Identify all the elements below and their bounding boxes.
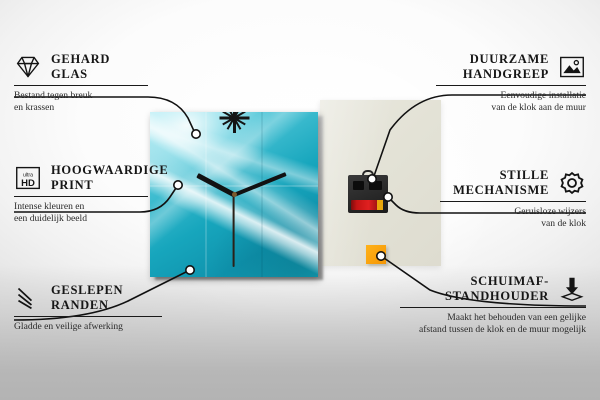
wall-clock	[150, 112, 318, 277]
feature-divider	[14, 316, 162, 317]
desc-line-2: en krassen	[14, 102, 54, 113]
title-line-1: STILLE	[500, 168, 549, 182]
desc-line-1: Maakt het behouden van een gelijke	[447, 312, 586, 323]
feature-stille-mechanisme: STILLE MECHANISME Geruisloze wijzers van…	[440, 168, 586, 229]
title-line-1: GEHARD	[51, 52, 110, 66]
desc-line-1: Geruisloze wijzers	[514, 206, 586, 217]
feature-schuimafstandhouder: SCHUIMAF- STANDHOUDER Maakt het behouden…	[400, 274, 586, 335]
title-line-1: HOOGWAARDIGE	[51, 163, 168, 177]
feature-divider	[14, 85, 148, 86]
feature-stille-mechanisme-title: STILLE MECHANISME	[453, 168, 549, 197]
svg-text:HD: HD	[21, 177, 35, 188]
feature-duurzame-handgreep: DUURZAME HANDGREEP Eenvoudige installati…	[436, 52, 586, 113]
title-line-1: GESLEPEN	[51, 283, 123, 297]
feature-duurzame-handgreep-desc: Eenvoudige installatie van de klok aan d…	[436, 90, 586, 113]
desc-line-1: Gladde en veilige afwerking	[14, 321, 123, 332]
title-line-2: GLAS	[51, 67, 88, 81]
picture-frame-icon	[558, 54, 586, 80]
glass-seam-vertical-2	[261, 112, 263, 277]
feature-gehard-glas-title: GEHARD GLAS	[51, 52, 110, 81]
desc-line-1: Bestand tegen breuk	[14, 90, 92, 101]
feature-geslepen-randen-title: GESLEPEN RANDEN	[51, 283, 123, 312]
desc-line-2: afstand tussen de klok en de muur mogeli…	[419, 324, 586, 335]
clock-mechanism	[348, 175, 388, 213]
glass-seam-vertical-1	[205, 112, 207, 277]
desc-line-1: Eenvoudige installatie	[500, 90, 586, 101]
feature-hoogwaardige-print-header: ultra HD HOOGWAARDIGE PRINT	[14, 163, 148, 192]
title-line-2: RANDEN	[51, 298, 109, 312]
foam-spacer	[366, 245, 386, 264]
title-line-1: DUURZAME	[470, 52, 549, 66]
feature-stille-mechanisme-header: STILLE MECHANISME	[440, 168, 586, 197]
mechanism-battery	[351, 200, 383, 210]
feature-schuimafstandhouder-desc: Maakt het behouden van een gelijke afsta…	[400, 312, 586, 335]
feature-gehard-glas-header: GEHARD GLAS	[14, 52, 148, 81]
title-line-2: STANDHOUDER	[445, 289, 549, 303]
feature-geslepen-randen-desc: Gladde en veilige afwerking	[14, 321, 162, 332]
ultra-hd-icon: ultra HD	[14, 165, 42, 191]
feature-gehard-glas-desc: Bestand tegen breuk en krassen	[14, 90, 148, 113]
title-line-1: SCHUIMAF-	[470, 274, 549, 288]
feature-divider	[14, 196, 148, 197]
mechanism-slot-left	[353, 181, 364, 190]
feature-geslepen-randen-header: GESLEPEN RANDEN	[14, 283, 162, 312]
clock-center-cap	[232, 192, 237, 197]
product-infographic: GEHARD GLAS Bestand tegen breuk en krass…	[0, 0, 600, 400]
title-line-2: MECHANISME	[453, 183, 549, 197]
title-line-2: PRINT	[51, 178, 93, 192]
battery-positive-terminal	[377, 200, 383, 210]
feature-divider	[400, 307, 586, 308]
feature-hoogwaardige-print-desc: Intense kleuren en een duidelijk beeld	[14, 201, 148, 224]
glass-seam-horizontal	[150, 185, 318, 187]
feature-divider	[436, 85, 586, 86]
feature-geslepen-randen: GESLEPEN RANDEN Gladde en veilige afwerk…	[14, 283, 162, 333]
feature-schuimafstandhouder-header: SCHUIMAF- STANDHOUDER	[400, 274, 586, 303]
desc-line-2: van de klok	[541, 218, 586, 229]
gear-icon	[558, 170, 586, 196]
feature-schuimafstandhouder-title: SCHUIMAF- STANDHOUDER	[445, 274, 549, 303]
desc-line-1: Intense kleuren en	[14, 201, 84, 212]
desc-line-2: een duidelijk beeld	[14, 213, 87, 224]
feature-hoogwaardige-print: ultra HD HOOGWAARDIGE PRINT Intense kleu…	[14, 163, 148, 224]
beveled-edges-icon	[14, 285, 42, 311]
diamond-icon	[14, 54, 42, 80]
clock-second-hand	[233, 195, 235, 267]
feature-hoogwaardige-print-title: HOOGWAARDIGE PRINT	[51, 163, 168, 192]
feature-duurzame-handgreep-title: DUURZAME HANDGREEP	[463, 52, 549, 81]
title-line-2: HANDGREEP	[463, 67, 549, 81]
feature-duurzame-handgreep-header: DUURZAME HANDGREEP	[436, 52, 586, 81]
mechanism-body	[348, 175, 388, 213]
feature-divider	[440, 201, 586, 202]
spacer-arrow-icon	[558, 276, 586, 302]
mechanism-slot-right	[369, 181, 382, 190]
feature-stille-mechanisme-desc: Geruisloze wijzers van de klok	[440, 206, 586, 229]
desc-line-2: van de klok aan de muur	[491, 102, 586, 113]
feature-gehard-glas: GEHARD GLAS Bestand tegen breuk en krass…	[14, 52, 148, 113]
